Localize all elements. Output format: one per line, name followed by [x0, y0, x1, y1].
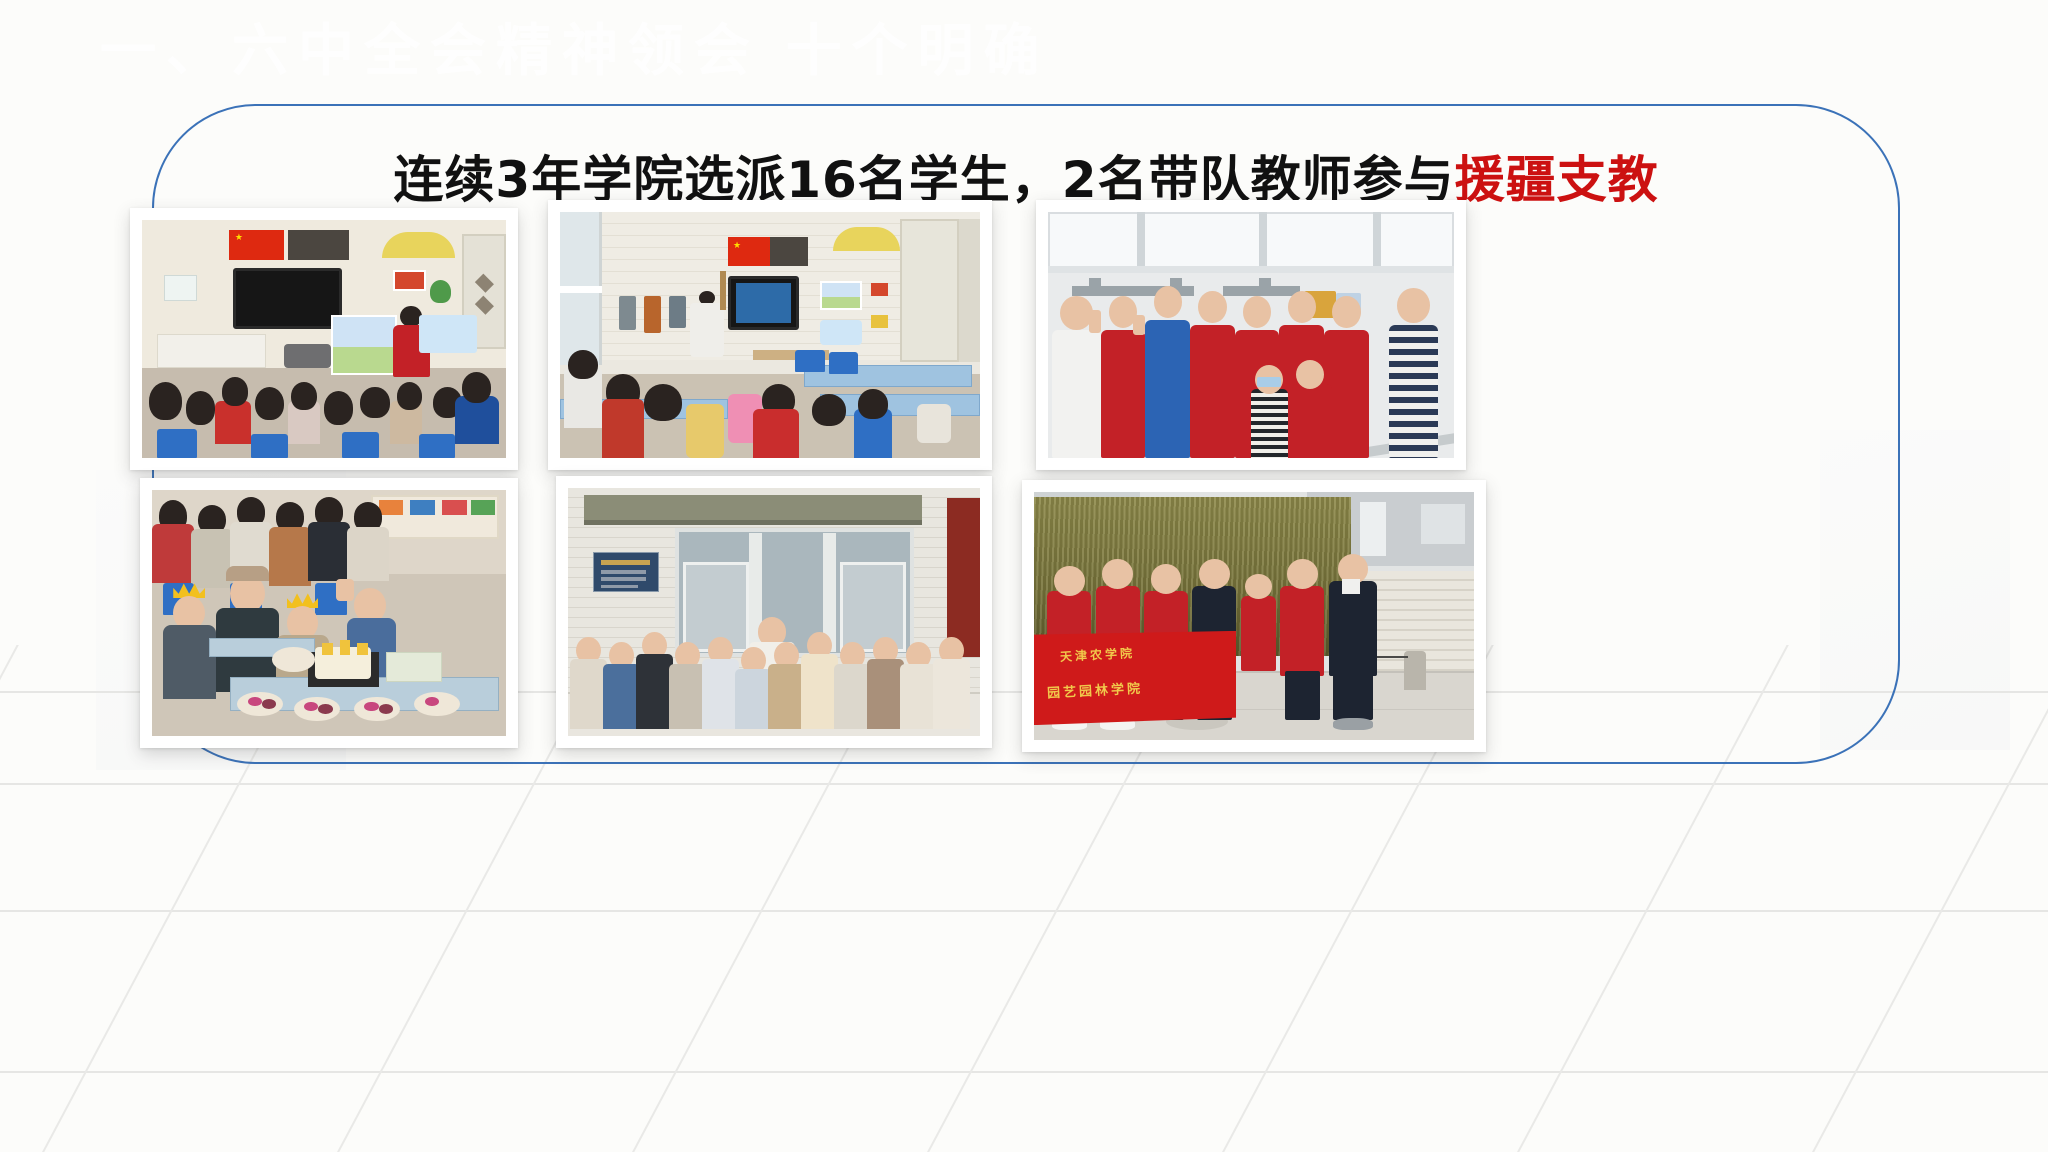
- photo-birthday-party[interactable]: [140, 478, 518, 748]
- banner-line-1: 天津农学院: [1060, 644, 1136, 665]
- photo-banner-group[interactable]: 天津农学院 园艺园林学院: [1022, 480, 1486, 752]
- photo-school-gate-group[interactable]: [556, 476, 992, 748]
- photo-image: [1048, 212, 1454, 458]
- photo-group-red-jackets[interactable]: [1036, 200, 1466, 470]
- photo-image: ★: [142, 220, 506, 458]
- photo-classroom-activity[interactable]: ★: [548, 200, 992, 470]
- slide-canvas: 一、六中全会精神领会 十个明确 连续3年学院选派16名学生，2名带队教师参与援疆…: [0, 0, 2048, 1152]
- photo-classroom-teaching[interactable]: ★: [130, 208, 518, 470]
- page-title-highlight: 援疆支教: [1455, 151, 1659, 209]
- photo-image: [568, 488, 980, 736]
- background-watermark: 一、六中全会精神领会 十个明确: [100, 6, 1050, 87]
- photo-image: ★: [560, 212, 980, 458]
- page-title: 连续3年学院选派16名学生，2名带队教师参与援疆支教: [152, 140, 1900, 212]
- photo-image: [152, 490, 506, 736]
- photo-image: 天津农学院 园艺园林学院: [1034, 492, 1474, 740]
